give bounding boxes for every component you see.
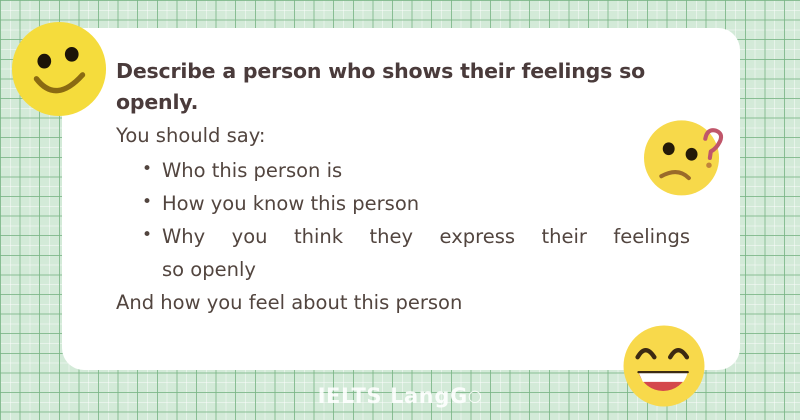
instruction-lead: You should say: [116,120,696,152]
confused-face-emoji [641,114,733,200]
closing-instruction: And how you feel about this person [116,287,696,319]
cue-card-bullet-list: Who this person is How you know this per… [116,154,696,286]
registered-mark-icon: ○ [468,386,483,405]
list-item: Why you think they express their feeling… [162,220,690,286]
smiling-face-emoji [10,20,108,118]
brand-logo-text: IELTS LangG [318,384,468,408]
list-item: Who this person is [162,154,696,187]
list-item: How you know this person [162,187,696,220]
card-text-block: Describe a person who shows their feelin… [116,56,696,319]
page-title: Describe a person who shows their feelin… [116,56,696,118]
list-item-line-2: so openly [162,253,690,286]
brand-logo: IELTS LangG○ [0,384,800,408]
list-item-line-1: Why you think they express their feeling… [162,220,690,253]
slide-canvas: Describe a person who shows their feelin… [0,0,800,420]
